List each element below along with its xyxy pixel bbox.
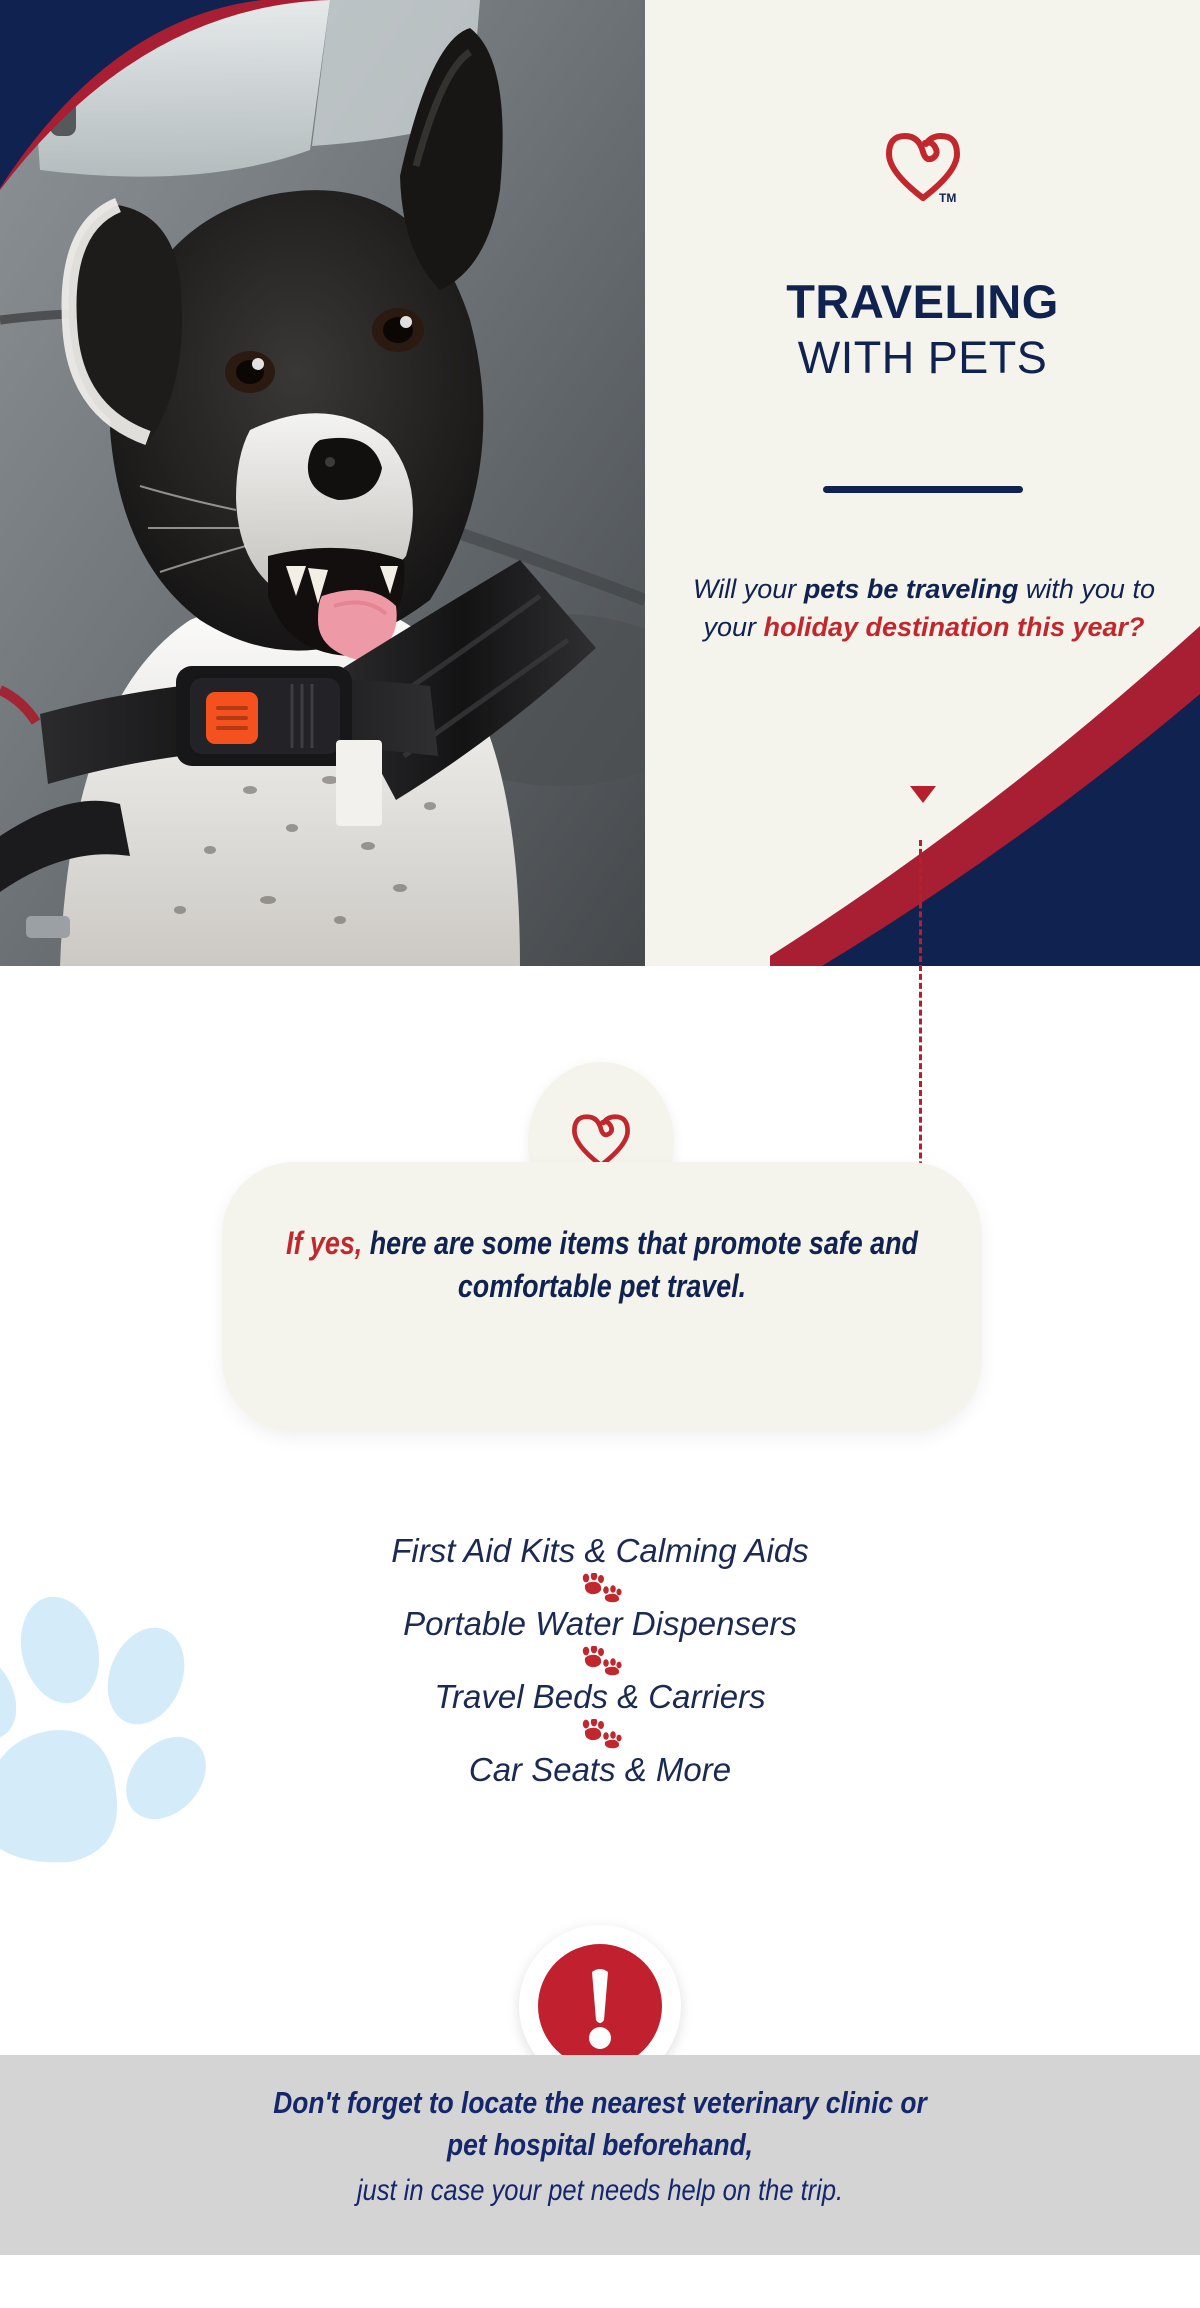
dashed-connector-line bbox=[919, 840, 922, 1212]
paw-prints-icon bbox=[0, 1644, 1200, 1678]
title-divider bbox=[823, 486, 1023, 493]
down-arrow-icon bbox=[910, 786, 936, 803]
question-part-4: holiday destination this year? bbox=[763, 612, 1144, 642]
callout-text: If yes, here are some items that promote… bbox=[283, 1222, 921, 1308]
hero-right-column: TM TRAVELING WITH PETS Will your pets be… bbox=[645, 0, 1200, 966]
title-line-2: WITH PETS bbox=[645, 335, 1200, 380]
heart-logo-icon: TM bbox=[877, 128, 969, 206]
title-line-1: TRAVELING bbox=[645, 278, 1200, 325]
hero-section: TM TRAVELING WITH PETS Will your pets be… bbox=[0, 0, 1200, 966]
page-title: TRAVELING WITH PETS bbox=[645, 278, 1200, 380]
exclamation-icon bbox=[538, 1944, 662, 2068]
footer-line-2: pet hospital beforehand, bbox=[90, 2124, 1110, 2166]
question-part-2: pets be traveling bbox=[804, 574, 1019, 604]
footer-line-3: just in case your pet needs help on the … bbox=[90, 2170, 1110, 2212]
paw-prints-icon bbox=[0, 1571, 1200, 1605]
item-list: First Aid Kits & Calming Aids Portable W… bbox=[0, 1532, 1200, 1790]
dog-in-car-harness-photo bbox=[0, 0, 645, 966]
footer-line-1: Don't forget to locate the nearest veter… bbox=[90, 2082, 1110, 2124]
callout-body: here are some items that promote safe an… bbox=[362, 1225, 918, 1304]
logo-trademark: TM bbox=[939, 191, 956, 205]
list-item: Car Seats & More bbox=[0, 1751, 1200, 1790]
footer-text: Don't forget to locate the nearest veter… bbox=[0, 2082, 1200, 2212]
list-item: Travel Beds & Carriers bbox=[0, 1678, 1200, 1717]
question-part-1: Will your bbox=[693, 574, 804, 604]
callout-highlight: If yes, bbox=[286, 1225, 362, 1261]
callout-card: If yes, here are some items that promote… bbox=[222, 1162, 982, 1432]
paw-prints-icon bbox=[0, 1717, 1200, 1751]
list-item: Portable Water Dispensers bbox=[0, 1605, 1200, 1644]
list-item: First Aid Kits & Calming Aids bbox=[0, 1532, 1200, 1571]
hero-question-text: Will your pets be traveling with you to … bbox=[669, 570, 1179, 647]
